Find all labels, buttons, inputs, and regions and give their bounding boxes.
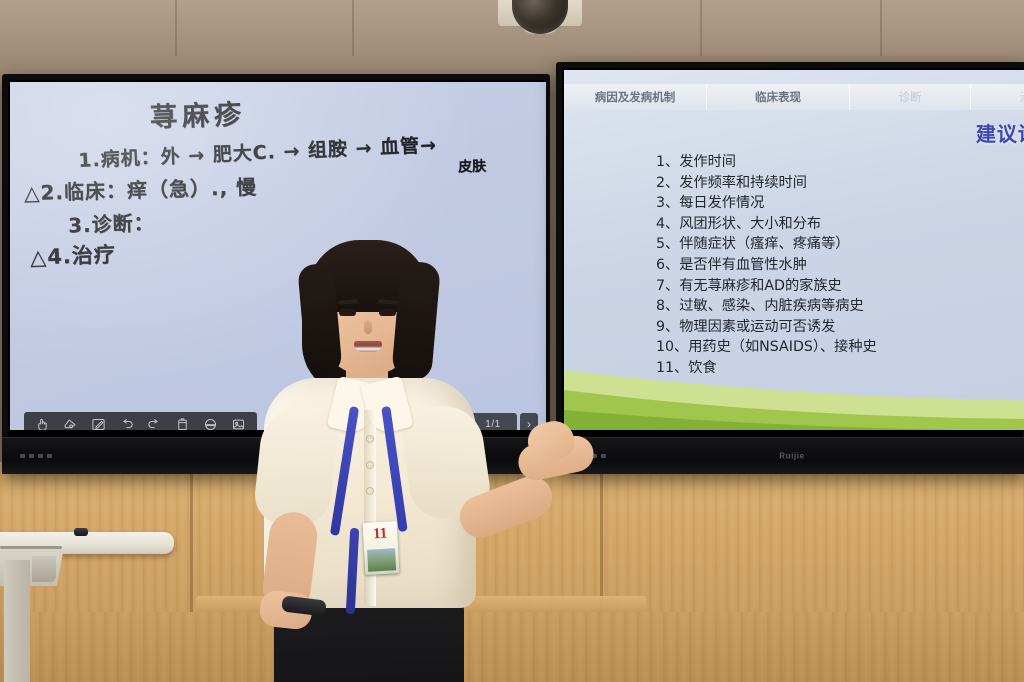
eraser-icon[interactable]: [202, 416, 219, 431]
pen-tool-icon[interactable]: [62, 416, 79, 431]
undo-icon[interactable]: [118, 416, 135, 431]
lectern-top: [0, 532, 174, 554]
remote-clicker-on-desk: [74, 528, 88, 536]
whiteboard-toolbar[interactable]: [24, 412, 257, 430]
handwriting-title: 荨麻疹: [149, 92, 246, 134]
list-item: 7、有无荨麻疹和AD的家族史: [656, 276, 1024, 297]
slide-canvas[interactable]: 病因及发病机制 临床表现 诊断 治疗 总结、拓展 建议询问的21个问题 1、发作…: [564, 70, 1024, 430]
list-item: 8、过敏、感染、内脏疾病等病史: [656, 296, 1024, 317]
wood-panel-seam: [190, 462, 193, 622]
lectern-leg: [4, 560, 30, 682]
list-item: 9、物理因素或运动可否诱发: [656, 317, 1024, 338]
handwriting-line-3: 3.诊断：: [68, 206, 155, 238]
tab-clinical[interactable]: 临床表现: [707, 84, 850, 110]
slide-title: 建议询问的21个问题: [564, 118, 1024, 147]
right-display-brand: Ruijie: [779, 452, 804, 461]
presenter: 11: [236, 240, 566, 682]
handwriting-line-1-tail: 皮肤: [458, 156, 487, 177]
wall-seam: [880, 0, 882, 60]
handwriting-line-4: △4.治疗: [30, 239, 117, 272]
nose: [364, 320, 372, 334]
list-item: 2、发作频率和持续时间: [656, 173, 1024, 194]
wall-seam: [700, 0, 702, 60]
edit-tool-icon[interactable]: [90, 416, 107, 431]
slide-wave-decoration: [564, 344, 1024, 430]
delete-icon[interactable]: [174, 416, 191, 431]
lectern-slot: [0, 546, 62, 549]
handwriting-line-2: △2.临床：痒（急）., 慢: [24, 171, 258, 206]
tab-diagnosis[interactable]: 诊断: [850, 84, 971, 110]
badge-photo: [367, 548, 396, 571]
wall-seam: [352, 0, 354, 60]
badge-number: 11: [363, 525, 398, 544]
right-presentation-display[interactable]: 病因及发病机制 临床表现 诊断 治疗 总结、拓展 建议询问的21个问题 1、发作…: [556, 62, 1024, 474]
blouse-button: [367, 462, 373, 468]
list-item: 3、每日发作情况: [656, 193, 1024, 214]
blouse-button: [367, 436, 373, 442]
handwriting-line-1: 1.病机：外 → 肥大C. → 组胺 → 血管→: [78, 130, 438, 173]
classroom-scene: 荨麻疹 1.病机：外 → 肥大C. → 组胺 → 血管→ 皮肤 △2.临床：痒（…: [0, 0, 1024, 682]
right-display-chin: Ruijie: [556, 437, 1024, 474]
eye-left: [339, 309, 356, 316]
list-item: 4、风团形状、大小和分布: [656, 214, 1024, 235]
id-badge: 11: [363, 521, 400, 575]
blouse-button: [367, 488, 373, 494]
wall-seam: [175, 0, 177, 60]
list-item: 6、是否伴有血管性水肿: [656, 255, 1024, 276]
tab-treatment[interactable]: 治疗: [971, 84, 1024, 110]
slide-tab-bar[interactable]: 病因及发病机制 临床表现 诊断 治疗 总结、拓展: [564, 84, 1024, 110]
hand-tool-icon[interactable]: [34, 416, 51, 431]
list-item: 1、发作时间: [656, 152, 1024, 173]
eye-right: [379, 309, 396, 316]
left-display-controls[interactable]: [20, 454, 52, 458]
mouth: [354, 341, 382, 352]
list-item: 5、伴随症状（瘙痒、疼痛等）: [656, 234, 1024, 255]
tab-etiology[interactable]: 病因及发病机制: [564, 84, 707, 110]
lectern-bracket: [32, 556, 56, 582]
redo-icon[interactable]: [146, 416, 163, 431]
